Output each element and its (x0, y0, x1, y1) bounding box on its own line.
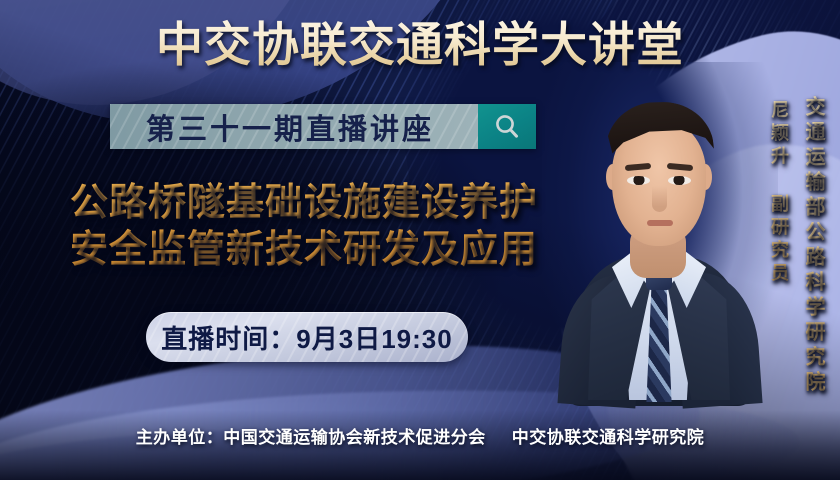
live-stream-poster: 中交协联交通科学大讲堂 第三十一期直播讲座 公路桥隧基础设施建设养护 安全监管新… (0, 0, 840, 480)
portrait-eye-right (668, 176, 691, 185)
portrait-mouth (647, 220, 673, 226)
footer-organizer-2: 中交协联交通科学研究院 (512, 428, 705, 447)
search-button[interactable] (478, 104, 536, 149)
footer-organizer-label: 主办单位： (136, 428, 224, 447)
speaker-name-title: 尼颖升 副研究员 (766, 100, 792, 286)
episode-search-bar[interactable]: 第三十一期直播讲座 (110, 104, 536, 149)
search-icon (492, 112, 522, 142)
portrait-eye-left (627, 176, 650, 185)
footer-organizers: 主办单位：中国交通运输协会新技术促进分会中交协联交通科学研究院 (0, 423, 840, 448)
lecture-subtitle-line-2: 安全监管新技术研发及应用 (28, 227, 580, 274)
page-title: 中交协联交通科学大讲堂 (0, 16, 840, 74)
search-input-value: 第三十一期直播讲座 (146, 106, 442, 148)
lecture-subtitle: 公路桥隧基础设施建设养护 安全监管新技术研发及应用 (28, 180, 580, 274)
search-input[interactable]: 第三十一期直播讲座 (110, 104, 478, 149)
portrait-figure (568, 78, 750, 400)
speaker-portrait (568, 78, 750, 400)
broadcast-time-badge: 直播时间：9月3日19:30 (146, 312, 468, 362)
lecture-subtitle-line-1: 公路桥隧基础设施建设养护 (28, 180, 580, 227)
broadcast-time-text: 直播时间：9月3日19:30 (161, 319, 452, 356)
speaker-organization: 交通运输部公路科学研究院 (799, 96, 828, 396)
portrait-nose (652, 186, 667, 212)
footer-organizer-1: 中国交通运输协会新技术促进分会 (223, 428, 486, 447)
